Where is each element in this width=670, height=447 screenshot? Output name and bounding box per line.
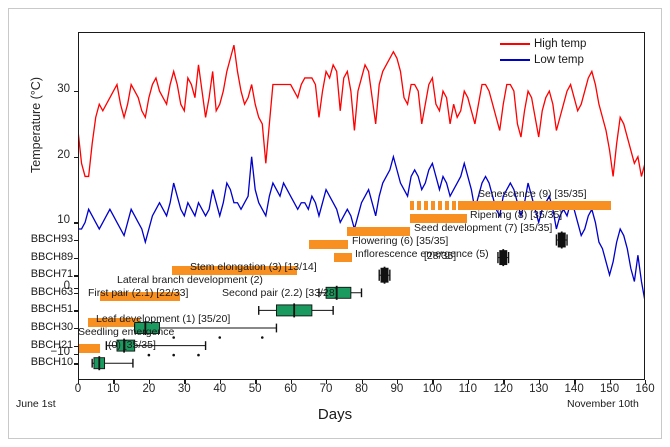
y-axis-label: Temperature (°C): [29, 45, 43, 205]
pheno-label-ripening: Ripening (8) [35/35]: [470, 209, 562, 221]
x-tick-mark-120: [503, 380, 504, 384]
x-tick-mark-160: [645, 380, 646, 384]
y-tick-mark-20: [74, 157, 78, 158]
x-tick-140: 140: [557, 383, 591, 395]
x-tick-mark-50: [255, 380, 256, 384]
x-axis-end-date: November 10th: [567, 398, 639, 410]
x-axis-start-date: June 1st: [16, 398, 56, 410]
x-tick-90: 90: [380, 383, 414, 395]
legend-label: High temp: [534, 38, 586, 50]
x-tick-mark-0: [78, 380, 79, 384]
legend-item-high-temp: High temp: [500, 36, 586, 52]
legend-swatch: [500, 59, 530, 61]
legend: High tempLow temp: [500, 36, 586, 68]
x-tick-0: 0: [61, 383, 95, 395]
bbch-tick-mark-bbch10: [74, 363, 78, 364]
pheno-label-second-pair: Second pair (2.2) [33/28]: [222, 287, 338, 299]
x-tick-mark-130: [539, 380, 540, 384]
y-tick-20: 20: [30, 149, 70, 161]
x-tick-160: 160: [628, 383, 662, 395]
bbch-tick-bbch51: BBCH51: [0, 303, 73, 315]
legend-item-low-temp: Low temp: [500, 52, 586, 68]
x-tick-80: 80: [345, 383, 379, 395]
pheno-label-lateral-branch-development: Lateral branch development (2): [117, 274, 263, 286]
x-tick-10: 10: [96, 383, 130, 395]
x-tick-50: 50: [238, 383, 272, 395]
x-tick-mark-40: [220, 380, 221, 384]
y-tick-mark-0: [74, 288, 78, 289]
bbch-tick-bbch10: BBCH10: [0, 356, 73, 368]
bbch-tick-mark-bbch71: [74, 275, 78, 276]
x-tick-40: 40: [203, 383, 237, 395]
y-tick-30: 30: [30, 83, 70, 95]
bbch-tick-bbch21: BBCH21: [0, 339, 73, 351]
pheno-label-extra-ratio: [28/35]: [424, 250, 456, 262]
bbch-tick-bbch93: BBCH93: [0, 233, 73, 245]
bbch-tick-bbch71: BBCH71: [0, 268, 73, 280]
pheno-label-leaf-development: Leaf development (1) [35/20]: [96, 313, 230, 325]
y-tick-mark--10: [74, 354, 78, 355]
pheno-label-first-pair: First pair (2.1) [22/33]: [88, 287, 188, 299]
x-tick-mark-90: [397, 380, 398, 384]
bbch-tick-bbch89: BBCH89: [0, 251, 73, 263]
x-tick-100: 100: [415, 383, 449, 395]
bbch-tick-mark-bbch63: [74, 293, 78, 294]
y-tick-10: 10: [30, 214, 70, 226]
x-tick-mark-60: [291, 380, 292, 384]
pheno-label-seed-development: Seed development (7) [35/35]: [414, 222, 552, 234]
x-tick-mark-140: [574, 380, 575, 384]
pheno-label-senescence: Senescence (9) [35/35]: [478, 188, 587, 200]
pheno-label-stem-elongation: Stem elongation (3) [13/14]: [190, 261, 317, 273]
bbch-tick-bbch63: BBCH63: [0, 286, 73, 298]
pheno-label-flowering: Flowering (6) [35/35]: [352, 235, 448, 247]
x-tick-130: 130: [522, 383, 556, 395]
pheno-label-inflorescence-emergence: Inflorescence emergence (5): [355, 248, 489, 260]
x-tick-mark-20: [149, 380, 150, 384]
x-tick-mark-70: [326, 380, 327, 384]
x-tick-mark-150: [610, 380, 611, 384]
bbch-tick-mark-bbch51: [74, 310, 78, 311]
x-tick-150: 150: [593, 383, 627, 395]
y-tick-mark-10: [74, 222, 78, 223]
x-tick-mark-80: [362, 380, 363, 384]
pheno-label-seedling-emergence: Seedling emergence: [78, 326, 174, 338]
pheno-label-germination: (0) [35/35]: [108, 339, 156, 351]
phenology-temperature-figure: Temperature (°C) 3020100−10 BBCH93BBCH89…: [0, 0, 670, 447]
y-tick-mark-30: [74, 91, 78, 92]
x-tick-mark-110: [468, 380, 469, 384]
legend-swatch: [500, 43, 530, 45]
x-tick-20: 20: [132, 383, 166, 395]
x-tick-70: 70: [309, 383, 343, 395]
legend-label: Low temp: [534, 54, 584, 66]
x-tick-mark-10: [113, 380, 114, 384]
x-tick-mark-30: [184, 380, 185, 384]
bbch-tick-mark-bbch93: [74, 240, 78, 241]
bbch-tick-mark-bbch21: [74, 346, 78, 347]
bbch-tick-mark-bbch89: [74, 258, 78, 259]
x-tick-mark-100: [432, 380, 433, 384]
x-tick-110: 110: [451, 383, 485, 395]
x-tick-60: 60: [274, 383, 308, 395]
x-tick-30: 30: [167, 383, 201, 395]
x-tick-120: 120: [486, 383, 520, 395]
bbch-tick-bbch30: BBCH30: [0, 321, 73, 333]
